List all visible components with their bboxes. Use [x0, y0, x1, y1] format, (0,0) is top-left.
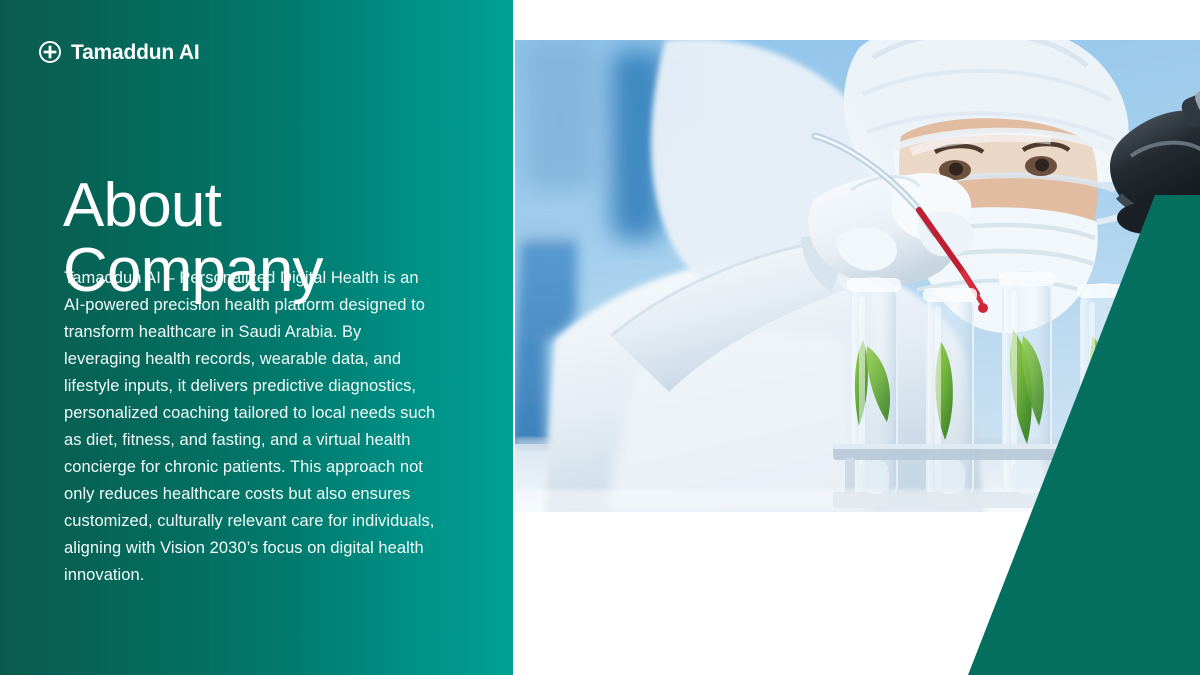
lab-photo-illustration	[515, 40, 1200, 512]
brand-logo: Tamaddun AI	[38, 40, 199, 64]
medical-cross-circle-icon	[38, 40, 62, 64]
lab-photo	[515, 40, 1200, 512]
slide-canvas: Tamaddun AI About Company Tamaddun AI – …	[0, 0, 1200, 675]
brand-name: Tamaddun AI	[71, 42, 199, 63]
about-company-paragraph: Tamaddun AI – Personalized Digital Healt…	[64, 265, 439, 589]
